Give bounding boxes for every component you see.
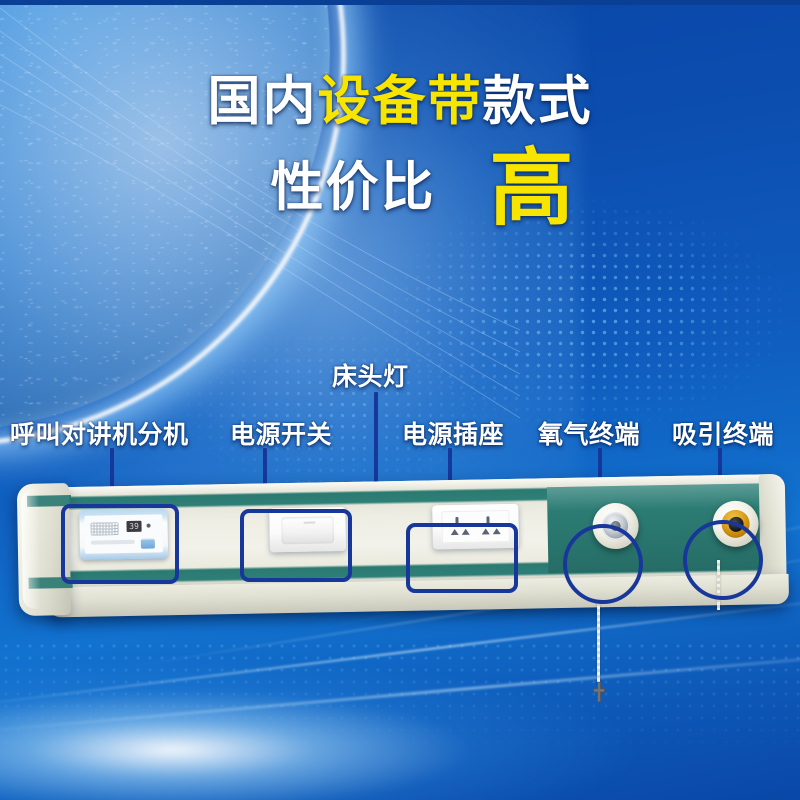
highlight-box-switch xyxy=(240,509,352,582)
callout-label-switch: 电源开关 xyxy=(230,415,332,451)
callout-label-intercom: 呼叫对讲机分机 xyxy=(10,415,189,451)
highlight-circle-suction xyxy=(683,520,763,600)
callout-label-suction: 吸引终端 xyxy=(672,415,774,451)
promo-banner: 国内设备带款式 性价比高 呼叫对讲机分机 电源开关 床头灯 电源插座 氧气终端 … xyxy=(0,0,800,800)
pull-cord-handle-icon[interactable] xyxy=(588,682,610,704)
endcap-highlight xyxy=(21,489,41,609)
callout-layer: 呼叫对讲机分机 电源开关 床头灯 电源插座 氧气终端 吸引终端 xyxy=(0,0,800,800)
highlight-box-socket xyxy=(406,523,518,593)
callout-label-bedlamp: 床头灯 xyxy=(332,357,409,393)
callout-label-socket: 电源插座 xyxy=(402,415,504,451)
highlight-circle-oxygen xyxy=(563,524,643,604)
callout-label-oxygen: 氧气终端 xyxy=(538,415,640,451)
highlight-box-intercom xyxy=(61,504,179,584)
oxygen-pull-cord xyxy=(597,600,600,686)
